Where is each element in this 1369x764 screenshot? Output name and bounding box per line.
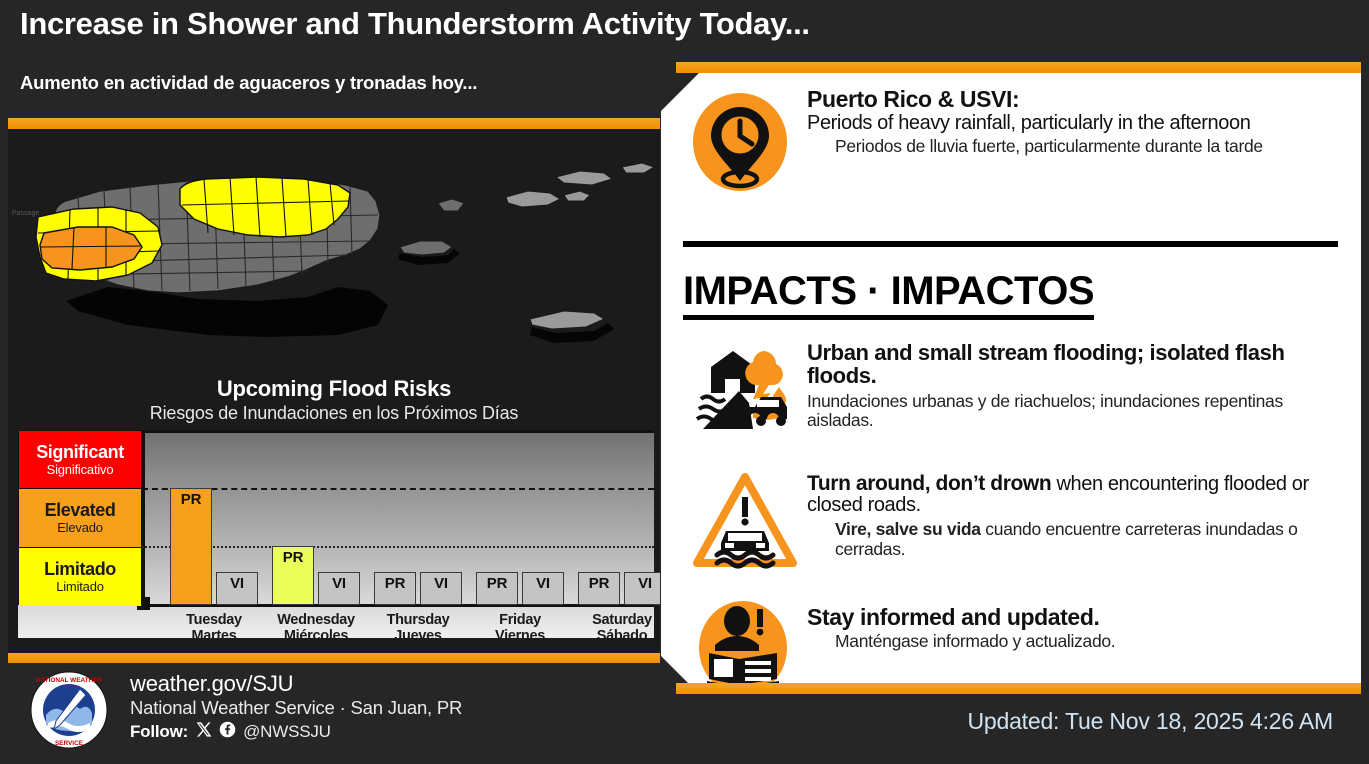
bar-label: PR	[181, 489, 201, 508]
bar-friday-pr: PR	[476, 572, 518, 605]
footer-url[interactable]: weather.gov/SJU	[130, 671, 293, 697]
bar-label: PR	[385, 573, 405, 592]
forecast-text: Puerto Rico & USVI: Periods of heavy rai…	[807, 87, 1347, 156]
legend-label-en: Elevated	[45, 501, 116, 519]
graphic-canvas: Increase in Shower and Thunderstorm Acti…	[0, 0, 1369, 764]
page-title: Increase in Shower and Thunderstorm Acti…	[20, 6, 810, 42]
impact-text-es: Manténgase informado y actualizado.	[807, 632, 1347, 651]
legend-item-significant: Significant Significativo	[19, 431, 141, 489]
impact-es-line: Vire, salve su vida cuando encuentre car…	[807, 520, 1352, 559]
bar-friday-vi: VI	[522, 572, 564, 605]
day-label-en: Tuesday	[160, 612, 268, 628]
page-subtitle-spanish: Aumento en actividad de aguaceros y tron…	[20, 72, 477, 94]
map-svg: Passage	[8, 129, 660, 369]
day-label-es: Jueves	[364, 628, 472, 644]
legend-label-en: Limitado	[44, 560, 116, 578]
chart-title: Upcoming Flood Risks	[8, 376, 660, 402]
follow-label: Follow:	[130, 722, 188, 742]
turn-around-dont-drown-icon	[693, 473, 797, 574]
day-label-en: Wednesday	[262, 612, 370, 628]
day-label-es: Martes	[160, 628, 268, 644]
day-label-en: Friday	[466, 612, 574, 628]
bar-label: VI	[536, 573, 550, 592]
bar-wednesday-pr: PR	[272, 546, 314, 605]
impact-heading-en: Stay informed and updated.	[807, 605, 1347, 629]
impact-text-stay-informed: Stay informed and updated. Manténgase in…	[807, 605, 1347, 652]
day-label-en: Saturday	[568, 612, 660, 628]
clock-location-icon	[693, 93, 787, 196]
footer-office: National Weather Service · San Juan, PR	[130, 697, 462, 719]
bar-saturday-pr: PR	[578, 572, 620, 605]
bar-label: VI	[332, 573, 346, 592]
impact-heading-line: Turn around, don’t drown when encounteri…	[807, 473, 1352, 516]
bar-saturday-vi: VI	[624, 572, 660, 605]
header-accent-bar-right	[676, 62, 1361, 73]
chart-top-rule	[142, 430, 654, 433]
updated-bar: Updated: Tue Nov 18, 2025 4:26 AM	[661, 694, 1361, 756]
gridline-elevated	[142, 488, 654, 490]
day-label-es: Sábado	[568, 628, 660, 644]
bar-thursday-vi: VI	[420, 572, 462, 605]
bar-tuesday-vi: VI	[216, 572, 258, 605]
legend-label-es: Significativo	[47, 463, 114, 476]
impacts-heading: IMPACTS · IMPACTOS	[683, 269, 1094, 320]
social-handle: @NWSSJU	[243, 722, 331, 742]
left-panel: Passage Upcoming Flood Risks Riesgos de …	[8, 129, 660, 653]
nws-logo: NATIONAL WEATHER SERVICE	[30, 671, 108, 754]
impact-heading-en: Urban and small stream flooding; isolate…	[807, 341, 1347, 388]
bar-label: PR	[283, 547, 303, 566]
risk-level-legend: Significant Significativo Elevated Eleva…	[18, 430, 142, 605]
flood-risk-chart: Upcoming Flood Risks Riesgos de Inundaci…	[8, 369, 660, 653]
chart-plot-frame: Significant Significativo Elevated Eleva…	[18, 430, 654, 638]
footer-social: Follow: @NWSSJU	[130, 721, 331, 743]
legend-label-es: Elevado	[57, 521, 103, 534]
legend-item-limited: Limitado Limitado	[19, 548, 141, 606]
impact-text-flooding: Urban and small stream flooding; isolate…	[807, 341, 1347, 430]
forecast-line-es: Periodos de lluvia fuerte, particularmen…	[807, 137, 1347, 156]
gridline-limited	[142, 546, 654, 548]
right-panel: Puerto Rico & USVI: Periods of heavy rai…	[661, 73, 1361, 694]
x-tick-wednesday: Wednesday Miércoles	[262, 612, 370, 644]
forecast-heading: Puerto Rico & USVI:	[807, 87, 1347, 111]
x-twitter-icon[interactable]	[195, 721, 212, 743]
updated-timestamp: Updated: Tue Nov 18, 2025 4:26 AM	[968, 708, 1334, 735]
flood-risk-map: Passage	[8, 129, 660, 369]
x-tick-friday: Friday Viernes	[466, 612, 574, 644]
chart-plot-area: PR VI PR VI PR	[142, 430, 654, 605]
impact-heading-bold: Turn around, don’t drown	[807, 472, 1051, 495]
x-tick-thursday: Thursday Jueves	[364, 612, 472, 644]
bar-thursday-pr: PR	[374, 572, 416, 605]
bar-label: VI	[434, 573, 448, 592]
footer-accent-bar	[8, 653, 660, 663]
legend-label-es: Limitado	[56, 580, 104, 593]
x-tick-saturday: Saturday Sábado	[568, 612, 660, 644]
svg-text:NATIONAL WEATHER: NATIONAL WEATHER	[36, 677, 102, 684]
impacts-divider	[683, 241, 1338, 247]
bar-label: VI	[230, 573, 244, 592]
footer-bar: NATIONAL WEATHER SERVICE weather.gov/SJU…	[8, 663, 660, 756]
impact-text-es: Inundaciones urbanas y de riachuelos; in…	[807, 392, 1347, 431]
svg-text:SERVICE: SERVICE	[55, 740, 84, 747]
bar-tuesday-pr: PR	[170, 488, 212, 605]
house-flood-car-icon	[693, 345, 793, 436]
map-label-passage: Passage	[12, 210, 39, 217]
bar-label: PR	[487, 573, 507, 592]
impact-es-bold: Vire, salve su vida	[835, 519, 981, 539]
header-accent-bar-left	[8, 118, 660, 129]
legend-label-en: Significant	[36, 443, 124, 461]
day-label-en: Thursday	[364, 612, 472, 628]
bar-label: VI	[638, 573, 652, 592]
bar-wednesday-vi: VI	[318, 572, 360, 605]
impact-text-turn-around: Turn around, don’t drown when encounteri…	[807, 473, 1352, 559]
chart-subtitle-spanish: Riesgos de Inundaciones en los Próximos …	[8, 403, 660, 424]
day-label-es: Viernes	[466, 628, 574, 644]
right-panel-accent-bar	[676, 683, 1361, 694]
chart-y-axis	[142, 430, 145, 607]
facebook-icon[interactable]	[219, 721, 236, 743]
bar-label: PR	[589, 573, 609, 592]
forecast-line-en: Periods of heavy rainfall, particularly …	[807, 113, 1347, 134]
day-label-es: Miércoles	[262, 628, 370, 644]
legend-item-elevated: Elevated Elevado	[19, 489, 141, 547]
x-tick-tuesday: Tuesday Martes	[160, 612, 268, 644]
